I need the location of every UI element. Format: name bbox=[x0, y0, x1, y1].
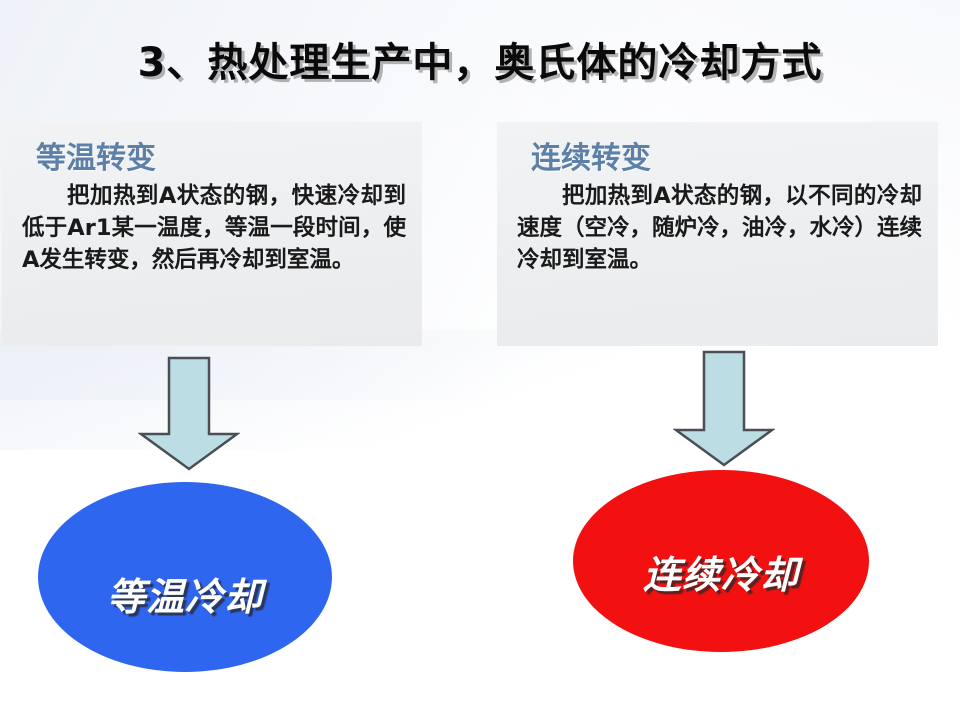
card-continuous-transformation: 连续转变 把加热到A状态的钢，以不同的冷却速度（空冷，随炉冷，油冷，水冷）连续冷… bbox=[497, 122, 938, 346]
card-isothermal-transformation: 等温转变 把加热到A状态的钢，快速冷却到低于Ar1某一温度，等温一段时间，使A发… bbox=[2, 122, 422, 346]
card-body-isothermal: 把加热到A状态的钢，快速冷却到低于Ar1某一温度，等温一段时间，使A发生转变，然… bbox=[22, 181, 406, 277]
page-title: 3、热处理生产中，奥氏体的冷却方式 bbox=[0, 40, 960, 86]
arrow-down-icon-continuous bbox=[673, 350, 775, 472]
arrow-down-icon-isothermal bbox=[138, 356, 240, 476]
arrow-down-icon bbox=[673, 350, 775, 468]
arrow-down-icon bbox=[138, 356, 240, 472]
callout-label-continuous-cooling: 连续冷却 bbox=[643, 544, 799, 599]
card-heading-isothermal: 等温转变 bbox=[36, 142, 408, 175]
callout-continuous-cooling: 连续冷却 bbox=[573, 470, 869, 652]
slide-canvas: 3、热处理生产中，奥氏体的冷却方式 等温转变 把加热到A状态的钢，快速冷却到低于… bbox=[0, 0, 960, 720]
card-body-continuous: 把加热到A状态的钢，以不同的冷却速度（空冷，随炉冷，油冷，水冷）连续冷却到室温。 bbox=[517, 181, 922, 277]
card-heading-continuous: 连续转变 bbox=[531, 142, 924, 175]
callout-label-isothermal-cooling: 等温冷却 bbox=[107, 566, 263, 621]
callout-isothermal-cooling: 等温冷却 bbox=[38, 482, 332, 672]
